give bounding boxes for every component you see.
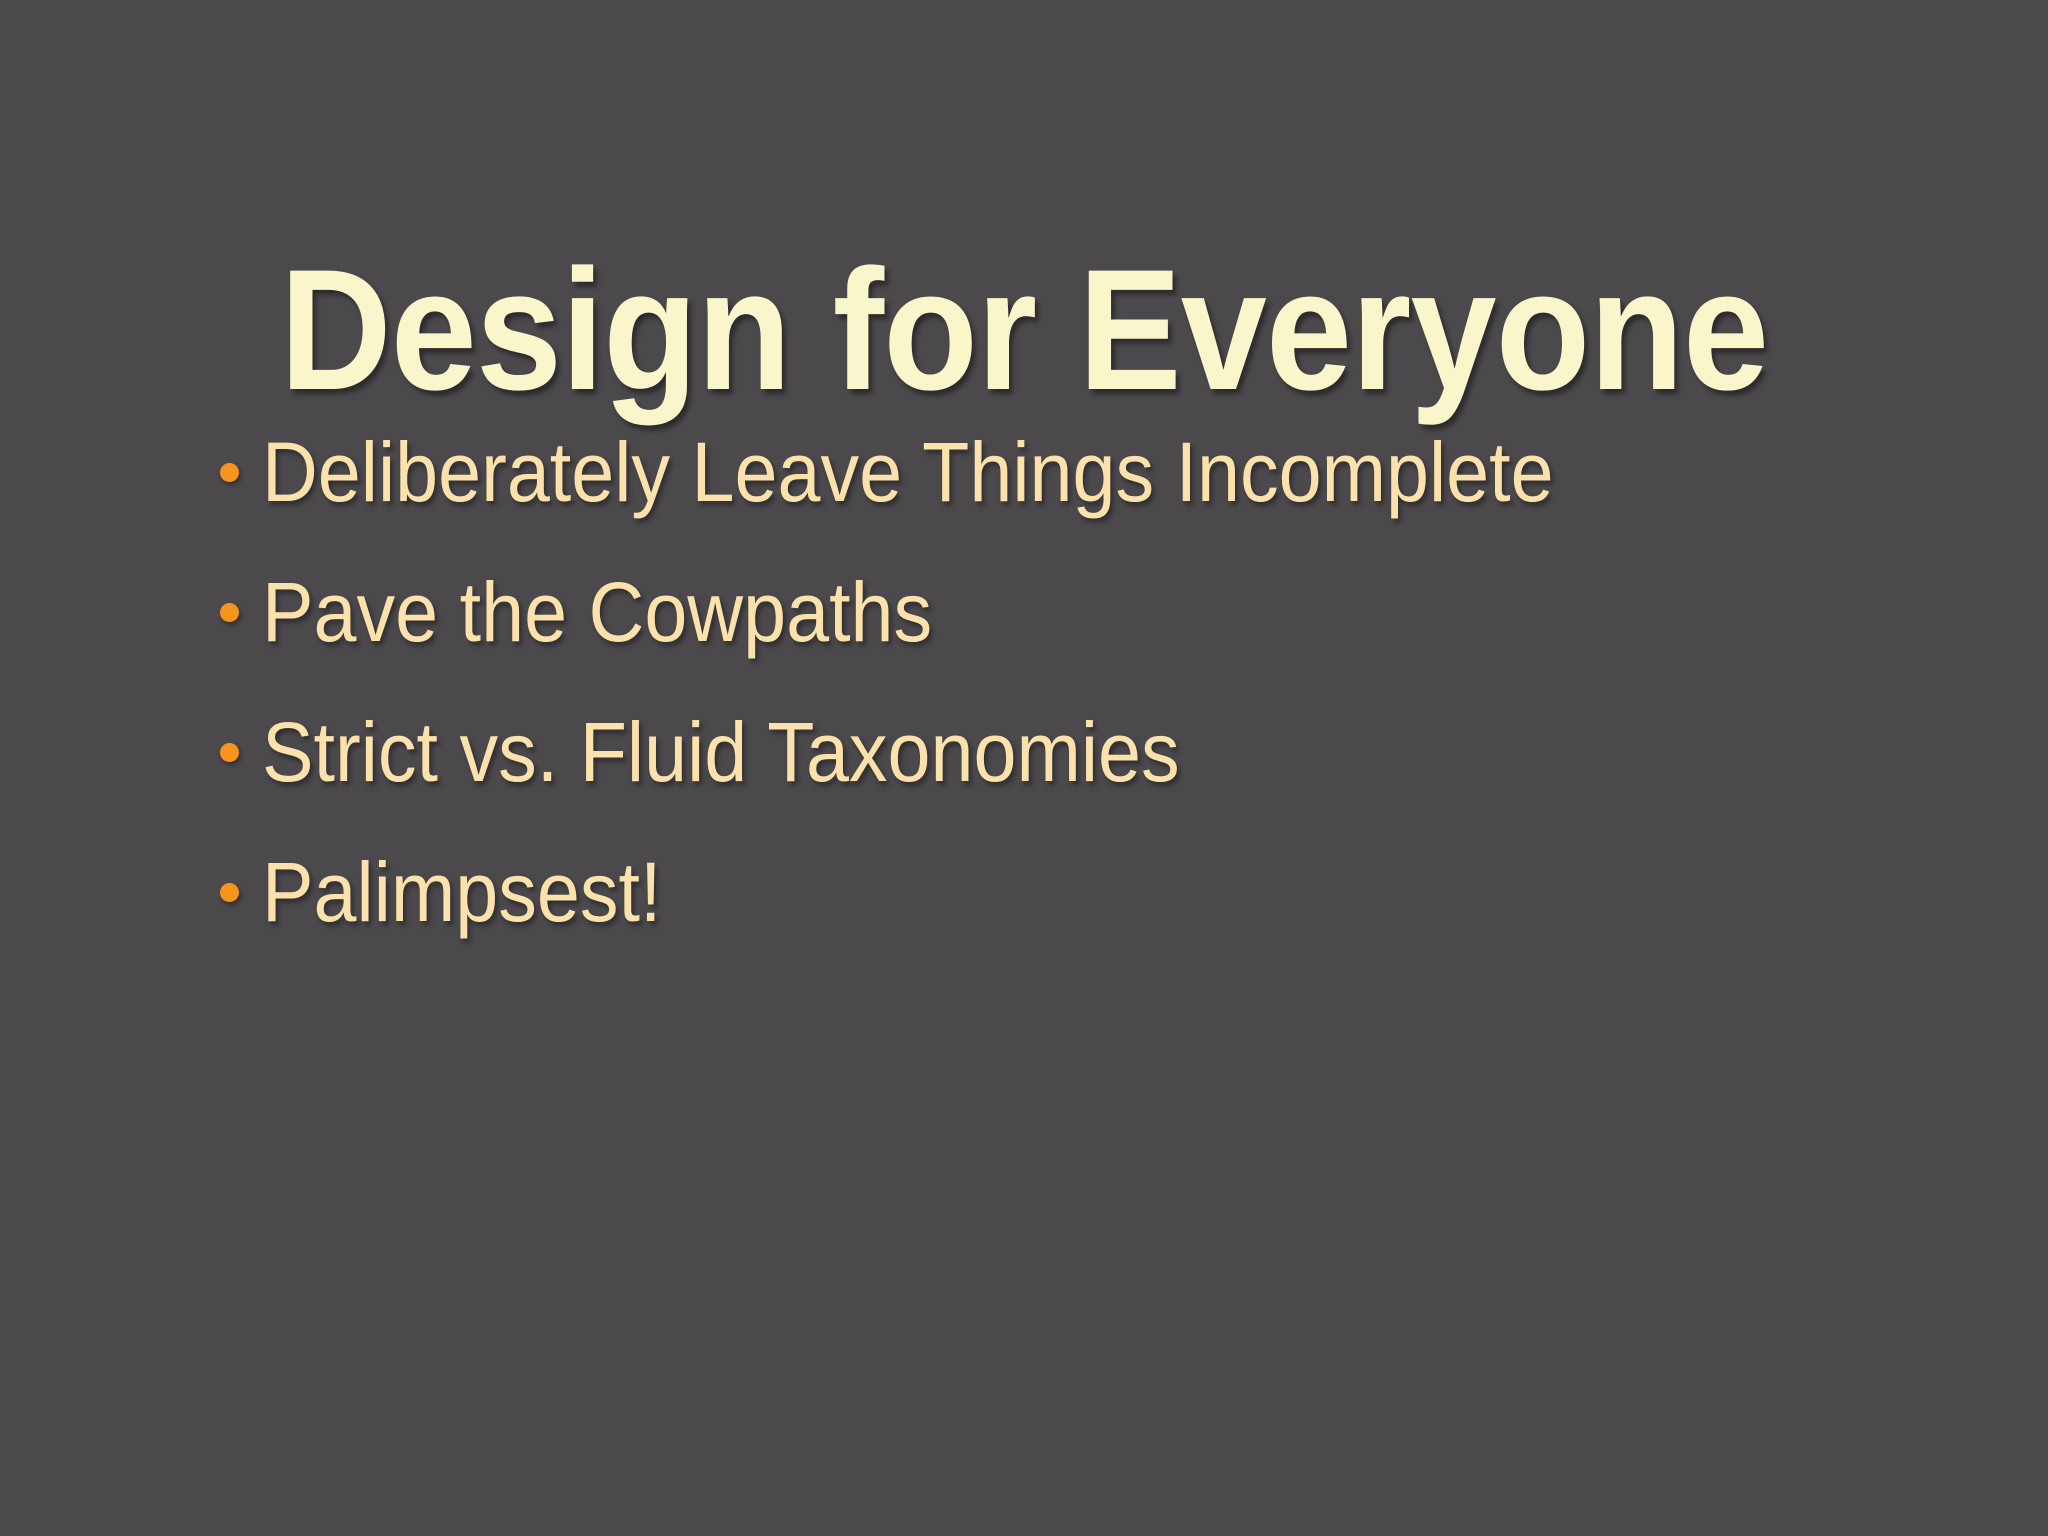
list-item: Pave the Cowpaths: [220, 542, 1980, 682]
list-item-label: Deliberately Leave Things Incomplete: [262, 430, 1554, 514]
list-item-label: Palimpsest!: [262, 850, 661, 934]
bullet-dot-icon: [220, 883, 239, 902]
list-item: Strict vs. Fluid Taxonomies: [220, 682, 1980, 822]
list-item-label: Pave the Cowpaths: [262, 570, 932, 654]
bullet-dot-icon: [220, 603, 239, 622]
list-item: Deliberately Leave Things Incomplete: [220, 402, 1980, 542]
bullet-dot-icon: [220, 743, 239, 762]
presentation-slide: Design for Everyone Deliberately Leave T…: [0, 0, 2048, 1536]
list-item: Palimpsest!: [220, 822, 1980, 962]
bullet-dot-icon: [220, 463, 239, 482]
list-item-label: Strict vs. Fluid Taxonomies: [262, 710, 1180, 794]
slide-title: Design for Everyone: [102, 243, 1945, 418]
bullet-list: Deliberately Leave Things Incomplete Pav…: [220, 402, 1980, 962]
